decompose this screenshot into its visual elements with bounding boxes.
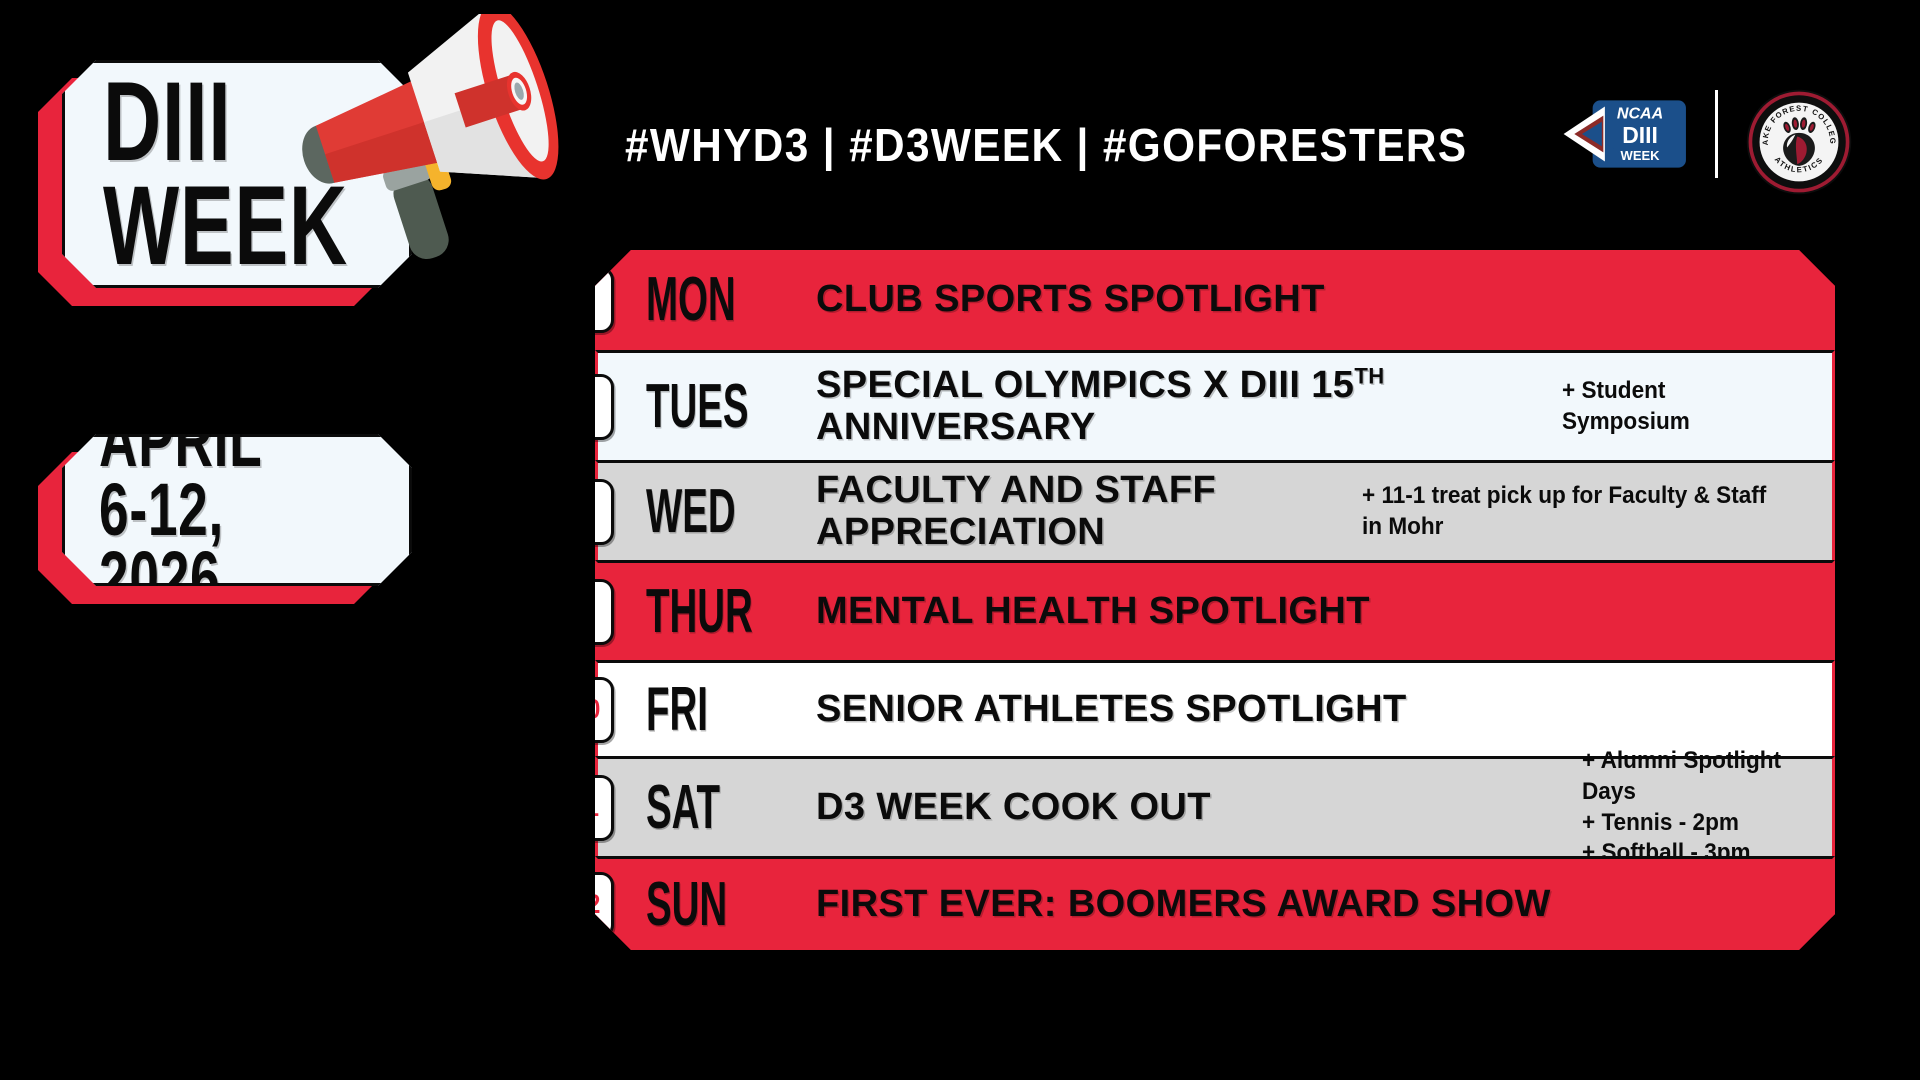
- schedule-row[interactable]: 4/12SUNFIRST EVER: BOOMERS AWARD SHOW: [595, 856, 1835, 950]
- schedule-row[interactable]: 4/8WEDFACULTY AND STAFFAPPRECIATION+ 11-…: [595, 460, 1835, 560]
- date-chip-label: 4/9: [560, 598, 593, 625]
- schedule-row[interactable]: 4/6MONCLUB SPORTS SPOTLIGHT: [595, 250, 1835, 350]
- date-chip-label: 4/6: [560, 287, 593, 314]
- event-title: SPECIAL OLYMPICS X DIII 15THANNIVERSARY: [816, 365, 1562, 447]
- day-label: TUES: [646, 376, 751, 438]
- day-label: MON: [646, 269, 751, 331]
- event-title: CLUB SPORTS SPOTLIGHT: [816, 279, 1832, 320]
- date-chip-label: 4/11: [555, 794, 600, 821]
- svg-text:NCAA: NCAA: [1617, 105, 1663, 123]
- schedule-row[interactable]: 4/9THURMENTAL HEALTH SPOTLIGHT: [595, 560, 1835, 660]
- date-chip: 4/9: [540, 579, 614, 645]
- day-label: WED: [646, 481, 751, 543]
- day-label: SUN: [646, 874, 751, 936]
- megaphone-icon: [290, 14, 590, 264]
- event-extra-notes: + 11-1 treat pick up for Faculty & Staff…: [1362, 481, 1804, 542]
- schedule-row[interactable]: 4/11SATD3 WEEK COOK OUT+ Alumni Spotligh…: [595, 756, 1835, 856]
- date-chip: 4/11: [540, 775, 614, 841]
- lake-forest-athletics-logo-icon: LAKE FOREST COLLEGE ATHLETICS: [1744, 87, 1862, 181]
- date-chip: 4/6: [540, 267, 614, 333]
- date-chip-label: 4/10: [554, 696, 600, 723]
- event-extra-notes: + Student Symposium: [1562, 376, 1816, 437]
- header-logos: NCAA DIII WEEK LAKE FOREST COLLEGE ATHL: [1559, 86, 1862, 182]
- poster-canvas: DIII WEEK: [0, 0, 1920, 1080]
- schedule-row[interactable]: 4/7TUESSPECIAL OLYMPICS X DIII 15THANNIV…: [595, 350, 1835, 460]
- date-badge-text: APRIL 6-12, 2026: [99, 407, 322, 613]
- event-title: FIRST EVER: BOOMERS AWARD SHOW: [816, 884, 1832, 925]
- hashtags-line: #WHYD3 | #D3WEEK | #GOFORESTERS: [625, 118, 1467, 172]
- day-label: THUR: [646, 581, 751, 643]
- day-label: SAT: [646, 777, 751, 839]
- event-title: MENTAL HEALTH SPOTLIGHT: [816, 591, 1832, 632]
- event-title: FACULTY AND STAFFAPPRECIATION: [816, 470, 1362, 552]
- date-chip-label: 4/8: [560, 498, 593, 525]
- ncaa-diii-week-logo-icon: NCAA DIII WEEK: [1559, 95, 1689, 173]
- schedule-panel: 4/6MONCLUB SPORTS SPOTLIGHT4/7TUESSPECIA…: [595, 250, 1835, 950]
- logo-divider: [1715, 90, 1718, 178]
- day-label: FRI: [646, 679, 751, 741]
- ordinal-suffix: TH: [1354, 364, 1384, 389]
- date-chip: 4/7: [540, 374, 614, 440]
- event-title: D3 WEEK COOK OUT: [816, 787, 1582, 828]
- date-badge: APRIL 6-12, 2026: [62, 434, 412, 586]
- svg-text:DIII: DIII: [1622, 122, 1658, 148]
- event-extra-notes: + Alumni Spotlight Days + Tennis - 2pm +…: [1582, 746, 1817, 869]
- date-chip: 4/8: [540, 479, 614, 545]
- event-title: SENIOR ATHLETES SPOTLIGHT: [816, 689, 1832, 730]
- date-chip: 4/10: [540, 677, 614, 743]
- date-chip: 4/12: [540, 872, 614, 938]
- svg-text:WEEK: WEEK: [1621, 148, 1661, 163]
- date-chip-label: 4/7: [560, 393, 593, 420]
- schedule-row[interactable]: 4/10FRISENIOR ATHLETES SPOTLIGHT: [595, 660, 1835, 756]
- date-chip-label: 4/12: [554, 891, 600, 918]
